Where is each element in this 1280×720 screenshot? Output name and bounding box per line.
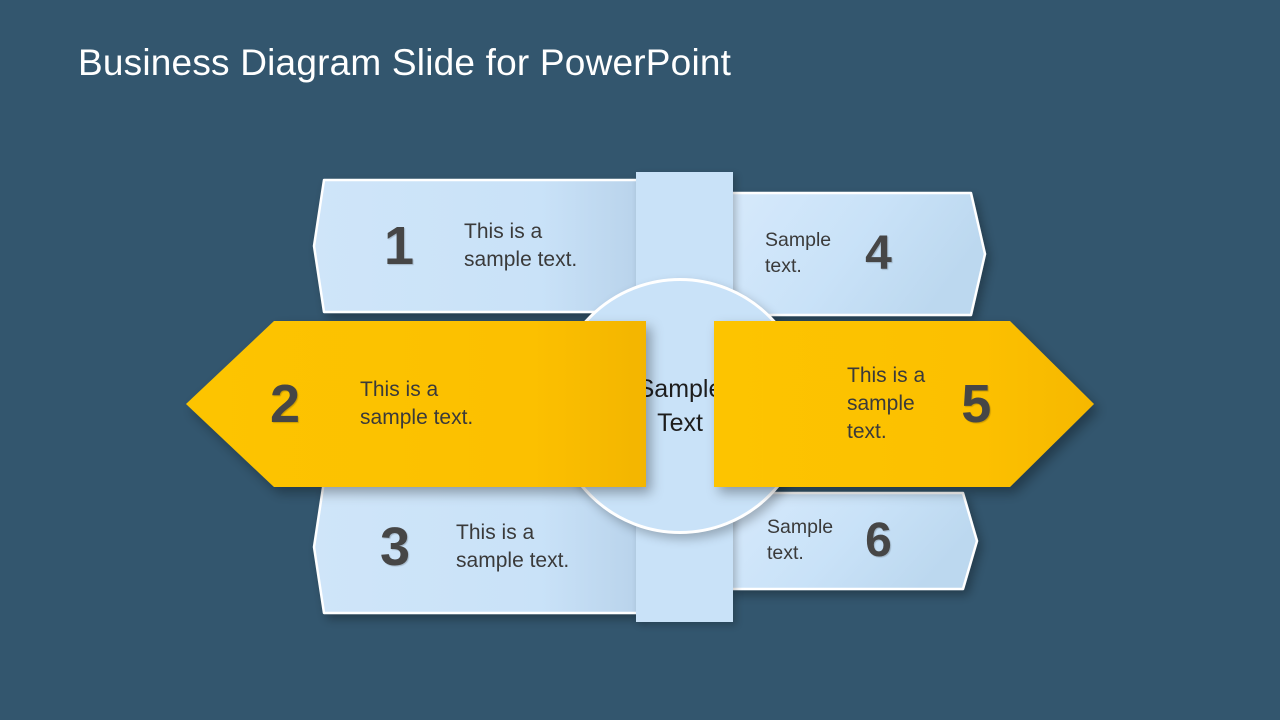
center-circle-label: Sample Text — [638, 372, 723, 440]
item-number-6: 6 — [865, 517, 892, 565]
item-text-3: This is a sample text. — [456, 519, 569, 574]
item-number-3: 3 — [380, 520, 410, 574]
chevron-item-1[interactable]: 1 This is a sample text. — [310, 176, 642, 316]
powerpoint-slide: Business Diagram Slide for PowerPoint — [0, 0, 1280, 720]
item-text-2: This is a sample text. — [360, 376, 473, 431]
chevron-item-2[interactable]: 2 This is a sample text. — [182, 318, 650, 490]
chevron-item-4[interactable]: Sample text. 4 — [727, 190, 989, 318]
item-text-5: This is a sample text. — [847, 362, 925, 445]
item-text-6: Sample text. — [767, 515, 833, 566]
item-number-4: 4 — [865, 230, 892, 278]
item-text-1: This is a sample text. — [464, 218, 577, 273]
item-number-2: 2 — [270, 377, 300, 431]
chevron-item-5[interactable]: This is a sample text. 5 — [712, 318, 1098, 490]
chevron-item-6[interactable]: Sample text. 6 — [727, 490, 981, 592]
item-text-4: Sample text. — [765, 228, 831, 279]
item-number-1: 1 — [384, 219, 414, 273]
item-number-5: 5 — [961, 377, 991, 431]
business-diagram: 1 This is a sample text. — [0, 0, 1280, 720]
